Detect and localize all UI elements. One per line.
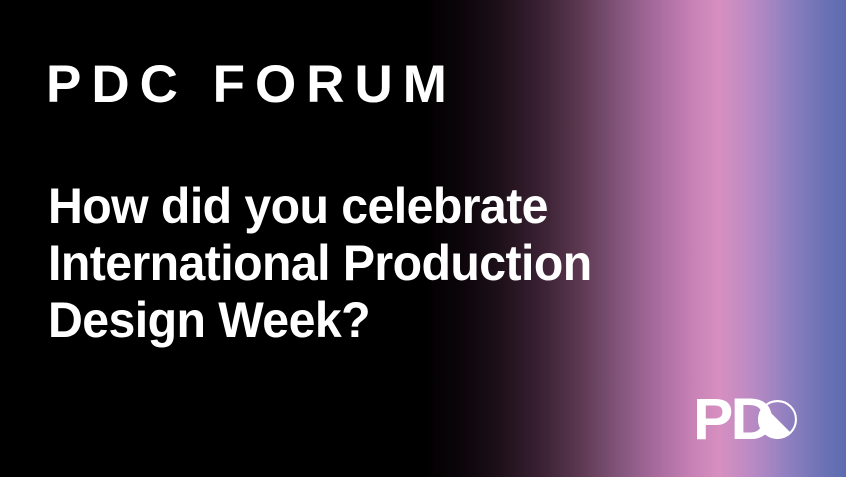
headline-line-1: How did you celebrate	[48, 178, 685, 235]
headline-line-2: International Production	[48, 235, 685, 292]
slide-content: PDC FORUM How did you celebrate Internat…	[0, 0, 846, 477]
headline-line-3: Design Week?	[48, 292, 685, 349]
headline: How did you celebrate International Prod…	[48, 178, 685, 349]
slide-canvas: PDC FORUM How did you celebrate Internat…	[0, 0, 846, 477]
split-circle-icon	[757, 399, 798, 440]
eyebrow-title: PDC FORUM	[46, 58, 457, 111]
